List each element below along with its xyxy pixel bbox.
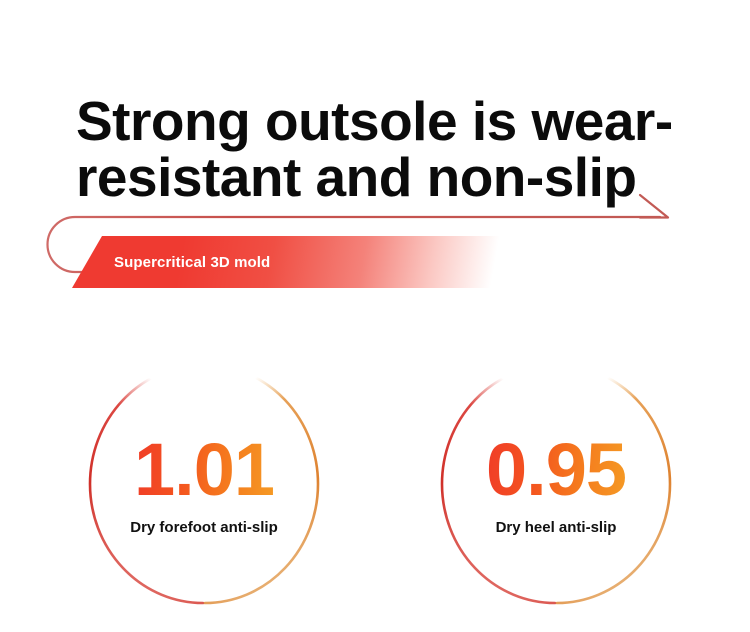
stat-value: 0.95: [486, 433, 626, 507]
stat-content-forefoot: 1.01 Dry forefoot anti-slip: [86, 360, 322, 608]
page-title: Strong outsole is wear- resistant and no…: [76, 93, 716, 205]
stat-value: 1.01: [134, 433, 274, 507]
stat-label: Dry heel anti-slip: [496, 519, 617, 536]
stats-row: 1.01 Dry forefoot anti-slip: [0, 360, 750, 620]
supercritical-banner: Supercritical 3D mold: [72, 236, 572, 288]
stat-card-heel: 0.95 Dry heel anti-slip: [438, 360, 674, 608]
stat-card-forefoot: 1.01 Dry forefoot anti-slip: [86, 360, 322, 608]
stat-content-heel: 0.95 Dry heel anti-slip: [438, 360, 674, 608]
promo-banner-page: Strong outsole is wear- resistant and no…: [0, 0, 750, 632]
banner-label: Supercritical 3D mold: [114, 236, 270, 288]
stat-label: Dry forefoot anti-slip: [130, 519, 278, 536]
